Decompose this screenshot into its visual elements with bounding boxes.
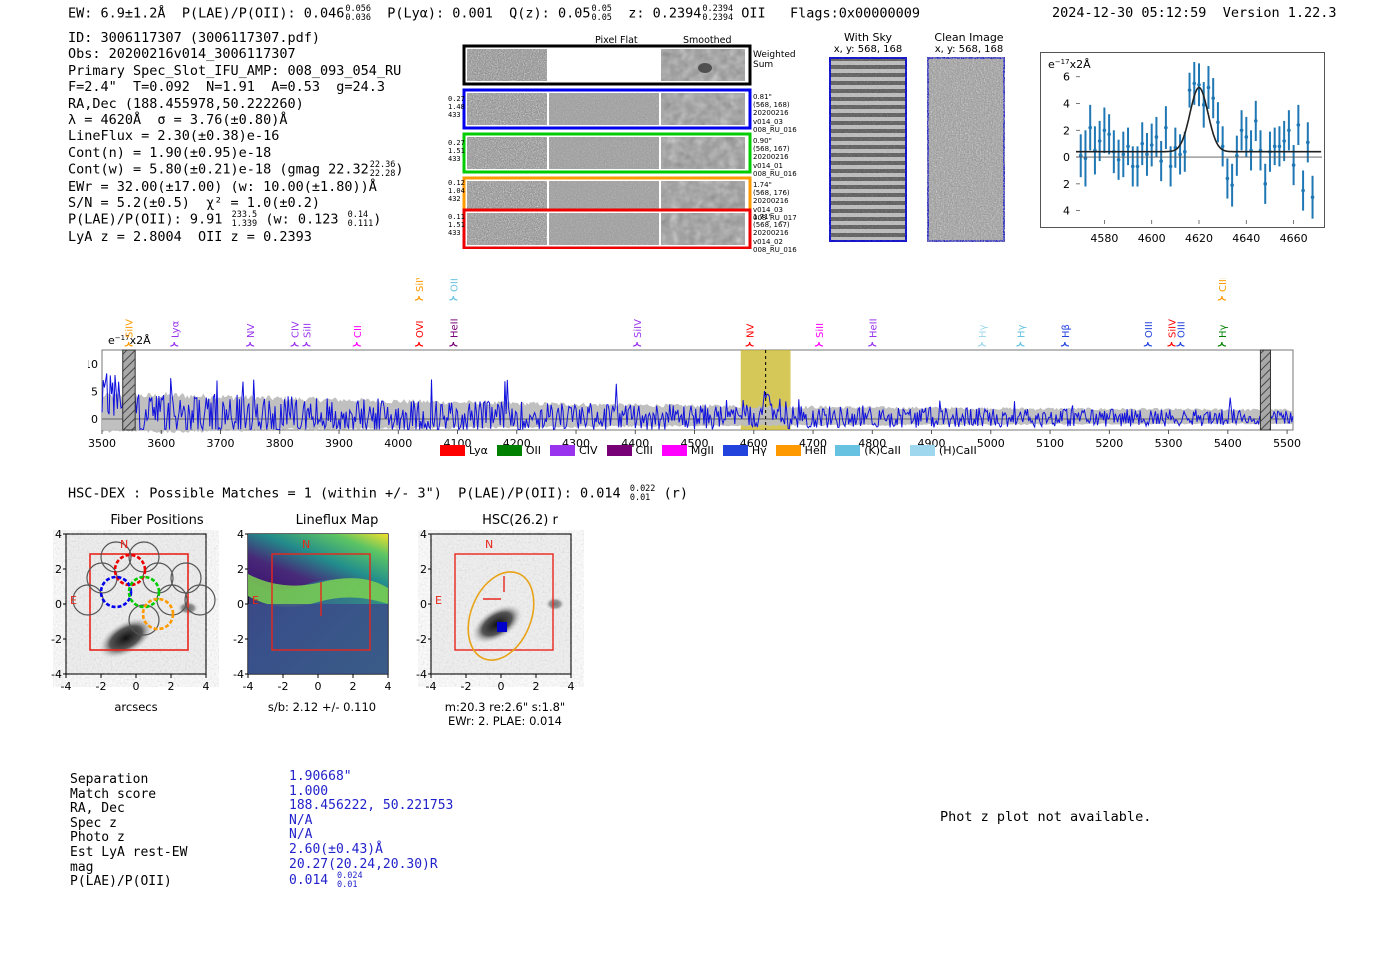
match-plae-range: 0.0240.01 [337, 872, 363, 889]
legend-swatch [910, 445, 935, 456]
svg-text:4660: 4660 [1280, 232, 1308, 245]
legend-item: HeII [776, 444, 827, 457]
info-obs: Obs: 20200216v014_3006117307 [68, 46, 296, 62]
svg-text:5200: 5200 [1095, 437, 1123, 450]
svg-text:Hγ: Hγ [1218, 324, 1229, 338]
svg-text:SiIV: SiIV [415, 278, 426, 292]
fit-data-points [1079, 62, 1314, 219]
svg-text:-2: -2 [461, 680, 472, 693]
svg-text:0: 0 [133, 680, 140, 693]
svg-text:10: 10 [88, 358, 98, 371]
header-plae-label: P(LAE)/P(OII): 0.046 [182, 6, 345, 22]
svg-text:2: 2 [533, 680, 540, 693]
svg-text:2: 2 [237, 563, 244, 576]
full-spectrum-panel: e−17x2Å051035003600370038003900400041004… [88, 278, 1303, 468]
svg-text:5000: 5000 [977, 437, 1005, 450]
svg-text:E: E [435, 594, 442, 607]
svg-text:N: N [485, 538, 493, 551]
svg-text:HeII: HeII [868, 318, 879, 338]
legend-swatch [440, 445, 465, 456]
svg-text:CIV: CIV [291, 321, 302, 338]
panel-title-fiber-positions: Fiber Positions [62, 513, 252, 528]
header-qz-range: 0.050.05 [591, 5, 611, 22]
svg-text:5: 5 [91, 385, 98, 398]
cutout-row-2-right-label: 0.90" (568, 167) 20200216 v014_01 008_RU… [753, 137, 797, 178]
hsc-r-plot: N E -4-2024 -4-2024 [405, 530, 605, 705]
svg-text:0: 0 [1063, 151, 1070, 164]
legend-swatch [550, 445, 575, 456]
svg-text:3900: 3900 [325, 437, 353, 450]
svg-text:E: E [252, 594, 259, 607]
svg-text:SiII: SiII [815, 323, 826, 338]
svg-text:2: 2 [1063, 124, 1070, 137]
cutout-row-1-right-label: 0.81" (568, 168) 20200216 v014_03 008_RU… [753, 93, 797, 134]
svg-text:4580: 4580 [1090, 232, 1118, 245]
info-lineflux: LineFlux = 2.30(±0.38)e-16 [68, 128, 279, 144]
svg-text:HeII: HeII [449, 318, 460, 338]
match-table-value: N/A [289, 814, 453, 829]
info-gmag-range: 22.3622.28 [370, 161, 396, 178]
header-plya: P(Lyα): 0.001 [387, 6, 493, 22]
svg-text:-2: -2 [278, 680, 289, 693]
legend-item: OII [497, 444, 541, 457]
match-table-value: 1.90668" [289, 770, 453, 785]
hsc-r-caption: m:20.3 re:2.6" s:1.8" [405, 700, 605, 714]
info-sn: S/N = 5.2(±0.5) χ² = 1.0(±0.2) [68, 195, 320, 211]
svg-text:-2: -2 [233, 633, 244, 646]
match-table-value: 0.014 0.0240.01 [289, 872, 453, 887]
svg-text:-4: -4 [243, 680, 254, 693]
legend-item: Lyα [440, 444, 488, 457]
weighted-sum-label: Weighted Sum [753, 50, 796, 70]
info-lambda: λ = 4620Å σ = 3.76(±0.80)Å [68, 112, 287, 128]
legend-swatch [662, 445, 687, 456]
svg-text:SiII: SiII [302, 323, 313, 338]
hscdex-plae-range: 0.0220.01 [630, 485, 656, 502]
match-table-values: 1.90668"1.000188.456222, 50.221753N/AN/A… [289, 770, 453, 887]
legend-label: Hγ [752, 444, 767, 457]
svg-text:0: 0 [420, 598, 427, 611]
svg-text:2: 2 [1063, 178, 1070, 191]
cutout-row-4-right-label: 1.71" (568, 167) 20200216 v014_02 008_RU… [753, 213, 797, 254]
svg-text:Lyα: Lyα [170, 320, 181, 338]
cutout-stack [462, 44, 752, 249]
timestamp: 2024-12-30 05:12:59 [1052, 5, 1206, 21]
info-radec: RA,Dec (188.455978,50.222260) [68, 96, 304, 112]
legend-label: CIII [636, 444, 653, 457]
legend-item: Hγ [723, 444, 767, 457]
cutout-row-4 [464, 210, 750, 248]
svg-text:0: 0 [315, 680, 322, 693]
svg-text:-2: -2 [416, 633, 427, 646]
compass-n-label: N [120, 538, 128, 551]
svg-text:4: 4 [203, 680, 210, 693]
legend-swatch [776, 445, 801, 456]
svg-text:-2: -2 [96, 680, 107, 693]
header-plae-range: 0.0560.036 [345, 5, 371, 22]
svg-text:OII: OII [449, 278, 460, 292]
cutout-row-3-left-label: 0.12 1.04 432 [448, 179, 465, 204]
svg-text:4: 4 [385, 680, 392, 693]
svg-text:NV: NV [746, 324, 757, 338]
svg-text:4: 4 [55, 530, 62, 541]
svg-text:SiIV: SiIV [633, 319, 644, 338]
svg-text:CII: CII [353, 325, 364, 338]
legend-item: (H)CaII [910, 444, 977, 457]
svg-text:0: 0 [91, 413, 98, 426]
svg-text:OIII: OIII [1144, 321, 1155, 338]
svg-text:4: 4 [1063, 98, 1070, 111]
panel-title-hsc-r: HSC(26.2) r [425, 513, 615, 528]
legend-label: (H)CaII [939, 444, 977, 457]
lineflux-map-plot: N E -4-2024 -4-2024 [222, 530, 422, 705]
svg-text:Hγ: Hγ [1016, 324, 1027, 338]
svg-text:5500: 5500 [1273, 437, 1301, 450]
header-z-range: 0.23940.2394 [702, 5, 733, 22]
header-z-label: z: 0.2394 [628, 6, 701, 22]
cutout-row-2 [464, 134, 750, 172]
legend-label: OII [526, 444, 541, 457]
svg-text:NV: NV [246, 324, 257, 338]
legend-label: MgII [691, 444, 714, 457]
hscdex-text: HSC-DEX : Possible Matches = 1 (within +… [68, 486, 621, 502]
info-plae-w-range: 0.140.111 [348, 211, 374, 228]
match-table-value: 188.456222, 50.221753 [289, 799, 453, 814]
svg-text:3500: 3500 [88, 437, 116, 450]
spectrum-legend: LyαOIICIVCIIIMgIIHγHeII(K)CaII(H)CaII [440, 444, 977, 457]
svg-text:4: 4 [237, 530, 244, 541]
match-table-labels: Separation Match score RA, Dec Spec z Ph… [70, 773, 187, 890]
svg-text:3700: 3700 [207, 437, 235, 450]
header-timestamp-version: 2024-12-30 05:12:59 Version 1.22.3 [1052, 5, 1337, 21]
svg-text:CIII: CIII [1218, 278, 1229, 292]
legend-swatch [497, 445, 522, 456]
match-table-value: 2.60(±0.43)Å [289, 843, 453, 858]
svg-text:5400: 5400 [1214, 437, 1242, 450]
match-table-value: N/A [289, 828, 453, 843]
svg-text:N: N [302, 538, 310, 551]
legend-label: HeII [805, 444, 827, 457]
svg-text:-4: -4 [61, 680, 72, 693]
with-sky-image [829, 57, 907, 242]
svg-text:0: 0 [498, 680, 505, 693]
cutout-row-1 [464, 90, 750, 128]
legend-item: CIV [550, 444, 597, 457]
cutout-row-4-left-label: 0.11 1.51 433 [448, 213, 465, 238]
header-ew: EW: 6.9±1.2Å [68, 6, 166, 22]
detection-info-block: ID: 3006117307 (3006117307.pdf) Obs: 202… [68, 30, 403, 245]
legend-label: Lyα [469, 444, 488, 457]
svg-text:0: 0 [55, 598, 62, 611]
svg-text:2: 2 [420, 563, 427, 576]
svg-text:-4: -4 [426, 680, 437, 693]
svg-text:Hγ: Hγ [978, 324, 989, 338]
legend-item: MgII [662, 444, 714, 457]
clean-image-title: Clean Image [925, 31, 1013, 44]
svg-text:5100: 5100 [1036, 437, 1064, 450]
hscdex-band: (r) [664, 486, 688, 502]
photoz-note: Phot z plot not available. [940, 809, 1151, 825]
hsc-r-caption2: EWr: 2. PLAE: 0.014 [405, 714, 605, 728]
hscdex-match-line: HSC-DEX : Possible Matches = 1 (within +… [68, 485, 688, 502]
svg-text:3600: 3600 [147, 437, 175, 450]
svg-text:4: 4 [420, 530, 427, 541]
svg-text:Hβ: Hβ [1061, 324, 1072, 338]
fit-plot-units: e−17x2Å [1048, 58, 1091, 71]
header-qz-label: Q(z): 0.05 [509, 6, 590, 22]
svg-text:4640: 4640 [1232, 232, 1260, 245]
svg-text:2: 2 [350, 680, 357, 693]
info-id: ID: 3006117307 (3006117307.pdf) [68, 30, 320, 46]
cutout-row-weighted-sum [464, 46, 750, 84]
svg-text:4620: 4620 [1185, 232, 1213, 245]
info-plae-range: 233.51.339 [232, 211, 258, 228]
fiber-positions-xlabel: arcsecs [56, 700, 216, 714]
info-redshifts: LyA z = 2.8004 OII z = 0.2393 [68, 229, 312, 245]
svg-text:3800: 3800 [266, 437, 294, 450]
svg-text:2: 2 [168, 680, 175, 693]
info-cont-n: Cont(n) = 1.90(±0.95)e-18 [68, 145, 271, 161]
info-ewr: EWr = 32.00(±17.00) (w: 10.00(±1.80))Å [68, 179, 377, 195]
panel-title-lineflux-map: Lineflux Map [242, 513, 432, 528]
legend-swatch [607, 445, 632, 456]
info-primary-spec: Primary Spec_Slot_IFU_AMP: 008_093_054_R… [68, 63, 401, 79]
svg-text:5300: 5300 [1155, 437, 1183, 450]
match-table-value: 1.000 [289, 785, 453, 800]
fiber-positions-plot: N E -4-2024 -4-2024 [40, 530, 240, 705]
svg-text:4000: 4000 [384, 437, 412, 450]
svg-text:0: 0 [237, 598, 244, 611]
svg-text:4: 4 [1063, 205, 1070, 218]
legend-label: (K)CaII [864, 444, 901, 457]
svg-text:SiIV: SiIV [125, 319, 136, 338]
lineflux-map-caption: s/b: 2.12 +/- 0.110 [222, 700, 422, 714]
header-z-type: OII [741, 6, 765, 22]
emission-line-fit-plot: e−17x2Å 420246 45804600462046404660 [1040, 52, 1325, 247]
header-summary-line: EW: 6.9±1.2Å P(LAE)/P(OII): 0.0460.0560.… [68, 5, 920, 22]
legend-swatch [835, 445, 860, 456]
info-plae: P(LAE)/P(OII): 9.91 [68, 212, 222, 228]
svg-text:-2: -2 [51, 633, 62, 646]
svg-text:OVI: OVI [415, 321, 426, 339]
legend-item: CIII [607, 444, 653, 457]
svg-text:4600: 4600 [1138, 232, 1166, 245]
svg-text:4: 4 [568, 680, 575, 693]
svg-text:2: 2 [55, 563, 62, 576]
match-table-value: 20.27(20.24,20.30)R [289, 858, 453, 873]
info-seeing: F=2.4" T=0.092 N=1.91 A=0.53 g=24.3 [68, 79, 385, 95]
info-cont-w: Cont(w) = 5.80(±0.21)e-18 (gmag 22.32 [68, 162, 369, 178]
legend-item: (K)CaII [835, 444, 901, 457]
compass-e-label: E [70, 594, 77, 607]
svg-text:6: 6 [1063, 71, 1070, 84]
legend-swatch [723, 445, 748, 456]
legend-label: CIV [579, 444, 597, 457]
with-sky-subtitle: x, y: 568, 168 [828, 44, 908, 55]
cutout-row-2-left-label: 0.27 1.51 433 [448, 139, 465, 164]
clean-image-subtitle: x, y: 568, 168 [925, 44, 1013, 55]
cutout-row-1-left-label: 0.27 1.48 433 [448, 95, 465, 120]
with-sky-title: With Sky [828, 31, 908, 44]
svg-text:OIII: OIII [1176, 321, 1187, 338]
version: Version 1.22.3 [1223, 5, 1337, 21]
header-flags: Flags:0x00000009 [790, 6, 920, 22]
clean-image [927, 57, 1005, 242]
